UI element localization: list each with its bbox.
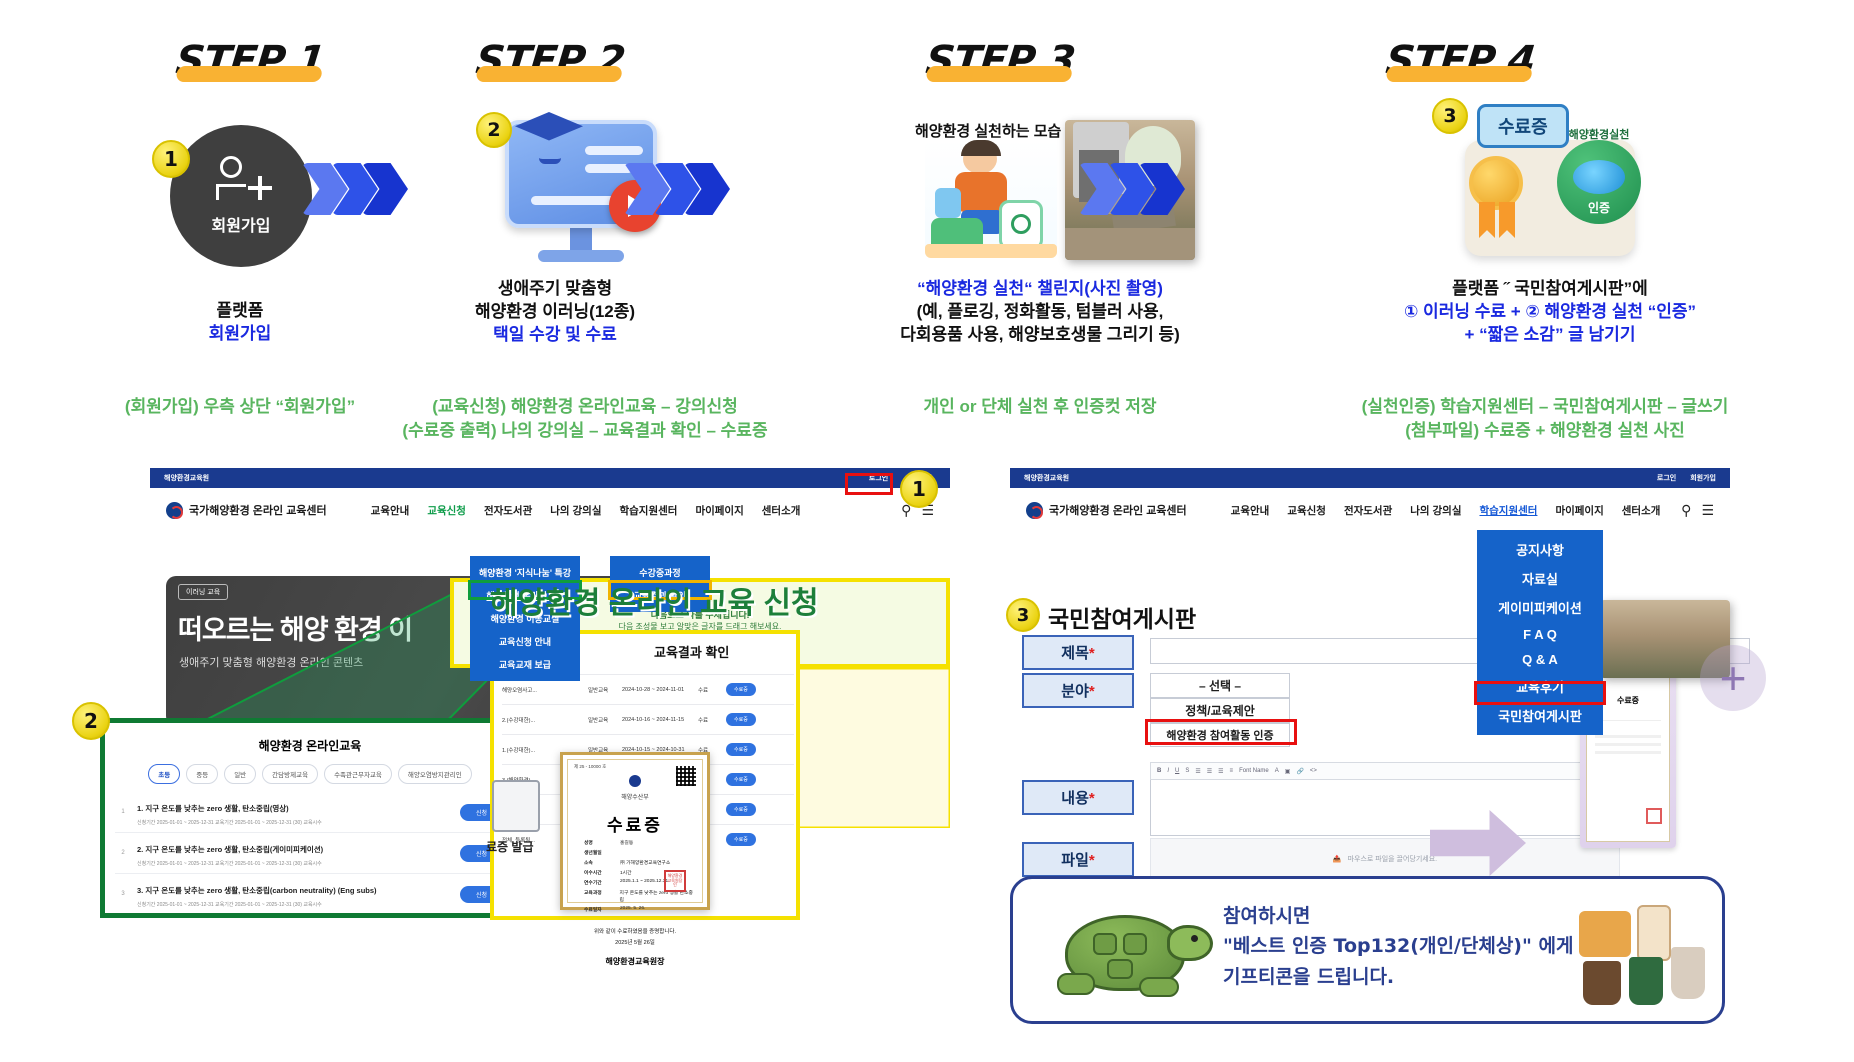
cell-type: 일반교육 [588, 716, 612, 724]
step4-title-2: ① 이러닝 수료 + ② 해양환경 실천 “인증” [1310, 301, 1790, 324]
cert-field-key: 소속 [584, 859, 610, 866]
promo-banner: 참여하시면 "베스트 인증 Top132(개인/단체상)" 에게 기프티콘을 드… [1010, 876, 1725, 1024]
menu-item-6[interactable]: 센터소개 [762, 503, 801, 518]
course-list-panel: 해양환경 온라인교육 초등 중등 일반 간담방제교육 수족관근무자교육 해양오염… [100, 718, 520, 918]
menu-item-1[interactable]: 교육신청 [1287, 503, 1326, 518]
step4-title-1: 플랫폼 ˝ 국민참여게시판”에 [1310, 278, 1790, 301]
row-meta: 신청기간 2025-01-01 ~ 2025-12-31 교육기간 2025-0… [137, 860, 452, 867]
step4-note: (실천인증) 학습지원센터 – 국민참여게시판 – 글쓰기 (첨부파일) 수료증… [1305, 395, 1785, 443]
cert-field-val: 홍길동 [620, 839, 633, 846]
right-navrow: 국가해양환경 온라인 교육센터 교육안내 교육신청 전자도서관 나의 강의실 학… [1010, 488, 1730, 532]
cake-icon [1637, 905, 1671, 961]
highlight-box-marine-cert-option [1145, 719, 1297, 745]
dropdown-support-item-4[interactable]: Q & A [1477, 647, 1603, 672]
chip-0[interactable]: 초등 [148, 764, 180, 784]
cert-ministry: 해양수산부 [574, 792, 696, 801]
search-icon[interactable]: ⚲ [1681, 502, 1691, 519]
dropdown-support-item-3[interactable]: F A Q [1477, 622, 1603, 647]
add-user-icon [208, 156, 274, 208]
dropdown-support-item-2[interactable]: 게이미피케이션 [1477, 593, 1603, 622]
cell-action[interactable]: 수료증 [726, 803, 756, 816]
dropdown-support-item-6[interactable]: 국민참여게시판 [1477, 701, 1603, 730]
menu-item-3[interactable]: 나의 강의실 [1410, 503, 1461, 518]
drink-icon [1671, 947, 1705, 999]
chip-3[interactable]: 간담방제교육 [262, 764, 318, 784]
globe-ring-label: 해양환경실천 [1553, 126, 1645, 142]
link-icon[interactable]: 🔗 [1296, 768, 1303, 775]
cell-period: 2024-10-16 ~ 2024-11-15 [622, 717, 688, 723]
step2-title-3: 택일 수강 및 수료 [400, 324, 710, 347]
cert-stamp: 해양환경교육원장인 [664, 870, 686, 892]
site-name: 국가해양환경 온라인 교육센터 [189, 502, 327, 518]
certificate-issue-icon [492, 780, 540, 832]
step3-title-2: (예, 플로깅, 정화활동, 텀블러 사용, [790, 301, 1290, 324]
step2-title-1: 생애주기 맞춤형 [400, 278, 710, 301]
form-label-title: 제목* [1022, 635, 1134, 670]
step-underline-2 [476, 66, 622, 82]
cert-date: 2025년 5월 26일 [574, 938, 696, 946]
gov-logo-icon [629, 775, 641, 787]
step4-caption: 플랫폼 ˝ 국민참여게시판”에 ① 이러닝 수료 + ② 해양환경 실천 “인증… [1310, 278, 1790, 347]
arrow-group-2 [640, 163, 730, 215]
table-row: 2.(수강대한)... 일반교육 2024-10-16 ~ 2024-11-15… [502, 704, 794, 734]
menu-item-6[interactable]: 센터소개 [1622, 503, 1661, 518]
font-name-select[interactable]: Font Name [1239, 768, 1269, 774]
promo-line-1: 참여하시면 [1223, 901, 1573, 931]
table-row[interactable]: 2 2. 지구 온도를 낮추는 zero 생활, 탄소중립(게이미피케이션)신청… [115, 833, 505, 874]
menu-item-4[interactable]: 학습지원센터 [1479, 503, 1537, 518]
row-meta: 신청기간 2025-01-01 ~ 2025-12-31 교육기간 2025-0… [137, 901, 452, 908]
step-underline-1 [176, 66, 322, 82]
dropdown-support-item-1[interactable]: 자료실 [1477, 564, 1603, 593]
cell-result: 수료 [698, 686, 716, 694]
promo-line-2: "베스트 인증 Top132(개인/단체상)" 에게 [1223, 931, 1573, 961]
underline-icon[interactable]: U [1175, 768, 1179, 774]
cert-field-val: 1시간 [620, 869, 632, 876]
cell-action[interactable]: 수료증 [726, 773, 756, 786]
site-brand: 국가해양환경 온라인 교육센터 [166, 502, 327, 519]
topbar-brand: 해양환경교육원 [164, 473, 209, 483]
cert-field-key: 수료일자 [584, 906, 610, 913]
editor-toolbar[interactable]: B I U S ☰ ☰ ☰ ≡ Font Name A ▣ 🔗 <> [1150, 762, 1620, 780]
image-icon[interactable]: ▣ [1285, 768, 1291, 775]
cert-field-val: 2025. 5. 26. [620, 906, 645, 913]
arrow-group-1 [318, 163, 408, 215]
step2-caption: 생애주기 맞춤형 해양환경 이러닝(12종) 택일 수강 및 수료 [400, 278, 710, 347]
step4-note-line-1: (실천인증) 학습지원센터 – 국민참여게시판 – 글쓰기 [1305, 395, 1785, 419]
cell-type: 일반교육 [588, 686, 612, 694]
step-header-2: STEP 2 [420, 38, 680, 84]
file-dropzone[interactable]: 📤 마우스로 파일을 끌어당기세요. [1150, 838, 1620, 880]
dropdown-support-item-0[interactable]: 공지사항 [1477, 535, 1603, 564]
cert-org: 해양환경교육원장 [574, 956, 696, 967]
step4-note-line-2: (첨부파일) 수료증 + 해양환경 실천 사진 [1305, 419, 1785, 443]
cell-result: 수료 [698, 716, 716, 724]
award-ribbon-icon [1469, 156, 1523, 210]
coffee-icon [1583, 961, 1621, 1005]
step3-note-line-1: 개인 or 단체 실천 후 인증컷 저장 [830, 395, 1250, 419]
cert-field-val: ㈜ 가해양환경교육연구소 [620, 859, 670, 866]
certificate-issue-label: 료증 발급 [486, 838, 534, 855]
code-icon[interactable]: <> [1310, 768, 1317, 774]
arrow-group-3 [1095, 163, 1185, 215]
certificate-document: 제 25 - 10000 호 해양수산부 수료증 성명홍길동 생년월일 소속㈜ … [560, 752, 710, 910]
promo-message: 참여하시면 "베스트 인증 Top132(개인/단체상)" 에게 기프티콘을 드… [1223, 901, 1573, 992]
menu-item-5[interactable]: 마이페이지 [1555, 503, 1603, 518]
cell-course: 2.(수강대한)... [502, 716, 578, 724]
dropdown-course-item-4[interactable]: 교육교재 보급 [470, 653, 580, 676]
menu-item-1[interactable]: 교육신청 [427, 503, 466, 518]
login-link[interactable]: 로그인 [1657, 473, 1676, 483]
menu-item-5[interactable]: 마이페이지 [695, 503, 743, 518]
cert-field-key: 이수시간 [584, 869, 610, 876]
step-badge-2: 2 [476, 112, 512, 148]
greentea-icon [1629, 957, 1663, 1005]
align-left-icon[interactable]: ☰ [1195, 768, 1200, 775]
cert-field-key: 생년월일 [584, 849, 610, 856]
step-header-1: STEP 1 [120, 38, 380, 84]
category-select-placeholder[interactable]: – 선택 – [1150, 673, 1290, 698]
row-index: 1 [117, 809, 129, 815]
chicken-icon [1579, 911, 1631, 957]
content-textarea[interactable] [1150, 780, 1620, 836]
signup-icon-caption: 회원가입 [212, 212, 271, 236]
signup-link[interactable]: 회원가입 [1690, 473, 1716, 483]
table-row[interactable]: 4 4. “갯벌”, 숲보다 더 푸른 바다의 들신청기간 2025-01-01… [115, 915, 505, 918]
signup-redbox [845, 473, 893, 495]
left-navrow: 국가해양환경 온라인 교육센터 교육안내 교육신청 전자도서관 나의 강의실 학… [150, 488, 950, 532]
course-filter-chips: 초등 중등 일반 간담방제교육 수족관근무자교육 해양오염방지관리인 [115, 764, 505, 784]
step3-title-1: “해양환경 실천“ 챌린지(사진 촬영) [790, 278, 1290, 301]
menu-item-0[interactable]: 교육안내 [1231, 503, 1270, 518]
cell-course: 해양오염사고... [502, 686, 578, 694]
align-center-icon[interactable]: ☰ [1207, 768, 1212, 775]
course-panel-title: 해양환경 온라인교육 [115, 737, 505, 754]
cert-field-key: 연수기간 [584, 879, 610, 886]
cell-action[interactable]: 수료증 [726, 683, 756, 696]
row-index: 2 [117, 850, 129, 856]
gift-food-icons [1579, 903, 1719, 1007]
step1-caption: 플랫폼 회원가입 [105, 300, 375, 346]
globe-label: 인증 [1588, 199, 1610, 216]
promo-line-3: 기프티콘을 드립니다. [1223, 962, 1573, 992]
step3-title-3: 다회용품 사용, 해양보호생물 그리기 등) [790, 324, 1290, 347]
step2-note: (교육신청) 해양환경 온라인교육 – 강의신청 (수료증 출력) 나의 강의실… [400, 395, 770, 443]
menu-item-2[interactable]: 전자도서관 [484, 503, 532, 518]
step-badge-1: 1 [152, 140, 190, 178]
cert-footer: 위와 같이 수료하였음을 증명합니다. [574, 927, 696, 935]
row-title: 2. 지구 온도를 낮추는 zero 생활, 탄소중립(게이미피케이션) [137, 845, 323, 854]
left-menu: 교육안내 교육신청 전자도서관 나의 강의실 학습지원센터 마이페이지 센터소개 [371, 503, 801, 518]
site-name: 국가해양환경 온라인 교육센터 [1049, 502, 1187, 518]
chip-2[interactable]: 일반 [224, 764, 256, 784]
cell-period: 2024-10-28 ~ 2024-11-01 [622, 687, 688, 693]
callout-badge-3: 3 [1006, 598, 1040, 632]
row-title: 3. 지구 온도를 낮추는 zero 생활, 탄소중립(carbon neutr… [137, 886, 377, 895]
callout-badge-1: 1 [900, 470, 938, 508]
step1-note-line-1: (회원가입) 우측 상단 “회원가입” [75, 395, 405, 419]
infographic-canvas: STEP 1 STEP 2 STEP 3 STEP 4 회원가입 1 [0, 0, 1854, 1062]
cell-action[interactable]: 수료증 [726, 833, 756, 846]
form-label-content: 내용* [1022, 780, 1134, 815]
course-rows: 1 1. 지구 온도를 낮추는 zero 생활, 탄소중립(영상)신청기간 20… [115, 792, 505, 918]
qr-code-icon [676, 766, 696, 786]
step-underline-4 [1386, 66, 1532, 82]
step-badge-3: 3 [1432, 98, 1468, 134]
page-title: 국민참여게시판 [1048, 600, 1196, 634]
step1-title-2: 회원가입 [105, 323, 375, 346]
step-header-4: STEP 4 [1330, 38, 1590, 84]
row-title: 1. 지구 온도를 낮추는 zero 생활, 탄소중립(영상) [137, 804, 289, 813]
right-menu: 교육안내 교육신청 전자도서관 나의 강의실 학습지원센터 마이페이지 센터소개 [1231, 503, 1661, 518]
hamburger-icon[interactable]: ☰ [1701, 502, 1714, 519]
chip-1[interactable]: 중등 [186, 764, 218, 784]
callout-badge-2: 2 [72, 702, 110, 740]
step1-title-1: 플랫폼 [105, 300, 375, 323]
italic-icon[interactable]: I [1167, 768, 1169, 774]
file-drop-text: 마우스로 파일을 끌어당기세요. [1348, 854, 1438, 864]
step2-note-line-1: (교육신청) 해양환경 온라인교육 – 강의신청 [400, 395, 770, 419]
row-index: 3 [117, 891, 129, 897]
eco-certification-icon: 해양환경실천 인증 [1557, 140, 1641, 224]
list-icon[interactable]: ≡ [1230, 768, 1234, 774]
result-panel-title: 교육결과 확인 [654, 642, 729, 661]
topbar-brand: 해양환경교육원 [1024, 473, 1069, 483]
step3-photo-caption: 해양환경 실천하는 모습 [915, 120, 1061, 141]
step2-title-2: 해양환경 이러닝(12종) [400, 301, 710, 324]
row-meta: 신청기간 2025-01-01 ~ 2025-12-31 교육기간 2025-0… [137, 819, 452, 826]
left-topbar: 해양환경교육원 로그인 회원가입 [150, 468, 950, 488]
strikethrough-icon[interactable]: S [1185, 768, 1189, 774]
menu-item-2[interactable]: 전자도서관 [1344, 503, 1392, 518]
bold-icon[interactable]: B [1157, 768, 1161, 774]
menu-item-3[interactable]: 나의 강의실 [550, 503, 601, 518]
add-attachment-icon[interactable]: + [1700, 645, 1766, 711]
cert-field-val: 2025.1.1 ~ 2025.12.31. [620, 879, 669, 886]
cell-action[interactable]: 수료증 [726, 743, 756, 756]
right-topbar: 해양환경교육원 로그인 회원가입 [1010, 468, 1730, 488]
logo-icon [1026, 502, 1043, 519]
cert-field-key: 성명 [584, 839, 610, 846]
cert-field-key: 교육과정 [584, 889, 610, 903]
cert-doc-number: 제 25 - 10000 호 [574, 764, 606, 770]
step4-title-3: + “짧은 소감” 글 남기기 [1310, 324, 1790, 347]
chip-5[interactable]: 해양오염방지관리인 [398, 764, 472, 784]
step3-illustration [925, 140, 1057, 258]
yellow-title: 해양환경 온라인 교육 신청 [490, 578, 819, 622]
upload-icon: 📤 [1333, 855, 1342, 863]
logo-icon [166, 502, 183, 519]
elearning-monitor-icon [505, 120, 657, 262]
step2-note-line-2: (수료증 출력) 나의 강의실 – 교육결과 확인 – 수료증 [400, 419, 770, 443]
step-underline-3 [926, 66, 1072, 82]
chip-4[interactable]: 수족관근무자교육 [324, 764, 392, 784]
menu-item-0[interactable]: 교육안내 [371, 503, 410, 518]
step1-note: (회원가입) 우측 상단 “회원가입” [75, 395, 405, 419]
site-brand: 국가해양환경 온라인 교육센터 [1026, 502, 1187, 519]
menu-item-4[interactable]: 학습지원센터 [619, 503, 677, 518]
turtle-illustration [1035, 899, 1211, 1003]
step-header-3: STEP 3 [870, 38, 1130, 84]
step3-caption: “해양환경 실천“ 챌린지(사진 촬영) (예, 플로깅, 정화활동, 텀블러 … [790, 278, 1290, 347]
dropdown-course-item-3[interactable]: 교육신청 안내 [470, 630, 580, 653]
step4-certificate-art: 해양환경실천 인증 [1455, 130, 1645, 260]
highlight-box-public-board [1474, 681, 1606, 705]
signup-circle-icon: 회원가입 [170, 125, 312, 267]
table-row[interactable]: 3 3. 지구 온도를 낮추는 zero 생활, 탄소중립(carbon neu… [115, 874, 505, 915]
cell-action[interactable]: 수료증 [726, 713, 756, 726]
form-label-category: 분야* [1022, 673, 1134, 708]
form-label-file: 파일* [1022, 842, 1134, 877]
step3-note: 개인 or 단체 실천 후 인증컷 저장 [830, 395, 1250, 419]
text-color-icon[interactable]: A [1275, 768, 1279, 774]
cert-title: 수료증 [574, 811, 696, 836]
align-right-icon[interactable]: ☰ [1218, 768, 1223, 775]
table-row[interactable]: 1 1. 지구 온도를 낮추는 zero 생활, 탄소중립(영상)신청기간 20… [115, 792, 505, 833]
